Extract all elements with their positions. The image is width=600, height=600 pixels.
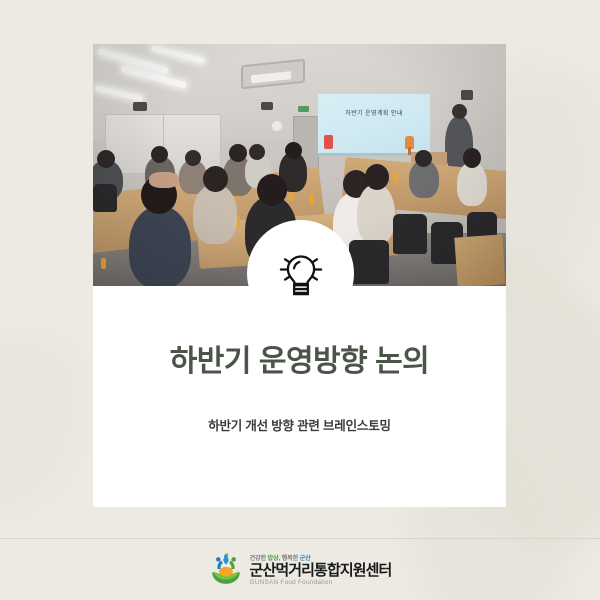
organization-logo: 건강한 밥상, 행복한 군산 군산먹거리통합지원센터 GUNSAN Food F…	[209, 553, 392, 587]
page-title: 하반기 운영방향 논의	[170, 343, 430, 381]
footer: 건강한 밥상, 행복한 군산 군산먹거리통합지원센터 GUNSAN Food F…	[0, 539, 600, 600]
page-subtitle: 하반기 개선 방향 관련 브레인스토밍	[208, 415, 391, 434]
logo-tagline-highlight2: 군산	[300, 555, 311, 562]
logo-tagline-part1: 건강한	[250, 555, 268, 562]
logo-text-group: 건강한 밥상, 행복한 군산 군산먹거리통합지원센터 GUNSAN Food F…	[250, 553, 392, 587]
poster-page: 하반기 운영계획 안내	[0, 0, 600, 600]
logo-emblem-icon	[209, 553, 243, 587]
lightbulb-icon	[273, 246, 329, 302]
logo-organization-name: 군산먹거리통합지원센터	[250, 563, 392, 579]
logo-organization-english-name: GUNSAN Food Foundation	[250, 579, 392, 586]
logo-tagline-highlight1: 밥상	[268, 555, 279, 562]
lightbulb-badge	[247, 220, 354, 327]
logo-tagline: 건강한 밥상, 행복한 군산	[250, 553, 392, 562]
logo-tagline-part2: , 행복한	[279, 555, 300, 562]
